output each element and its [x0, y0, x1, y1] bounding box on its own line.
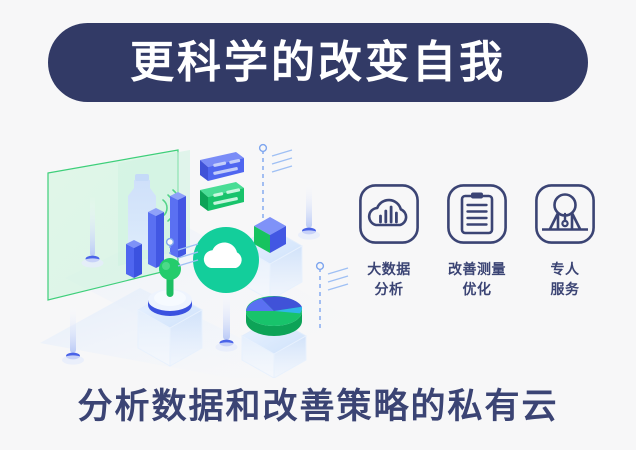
feature-item-measure[interactable]: 改善测量 优化: [440, 183, 514, 300]
feature-item-service[interactable]: 专人 服务: [528, 183, 602, 300]
feature-item-big-data[interactable]: 大数据 分析: [352, 183, 426, 300]
page-title: 更科学的改变自我: [130, 41, 506, 85]
feature-label-line1: 大数据: [367, 261, 411, 277]
service-person-icon: [534, 183, 596, 245]
feature-label-line2: 服务: [551, 281, 580, 297]
feature-label-big-data: 大数据 分析: [367, 259, 411, 300]
feature-label-line2: 分析: [375, 281, 404, 297]
poster-canvas: 更科学的改变自我: [0, 0, 636, 450]
feature-list: 大数据 分析 改善测量: [352, 183, 602, 333]
tagline: 分析数据和改善策略的私有云: [0, 386, 636, 428]
feature-label-line1: 改善测量: [448, 261, 506, 277]
cloud-bar-chart-icon: [358, 183, 420, 245]
pedestal-pie: [242, 296, 306, 378]
clipboard-icon: [446, 183, 508, 245]
tag-labels: [200, 152, 244, 211]
feature-label-line1: 专人: [551, 261, 580, 277]
feature-label-line2: 优化: [463, 281, 492, 297]
title-banner: 更科学的改变自我: [48, 23, 588, 102]
feature-label-measure: 改善测量 优化: [448, 259, 506, 300]
feature-label-service: 专人 服务: [551, 259, 580, 300]
illustration: [30, 128, 360, 378]
